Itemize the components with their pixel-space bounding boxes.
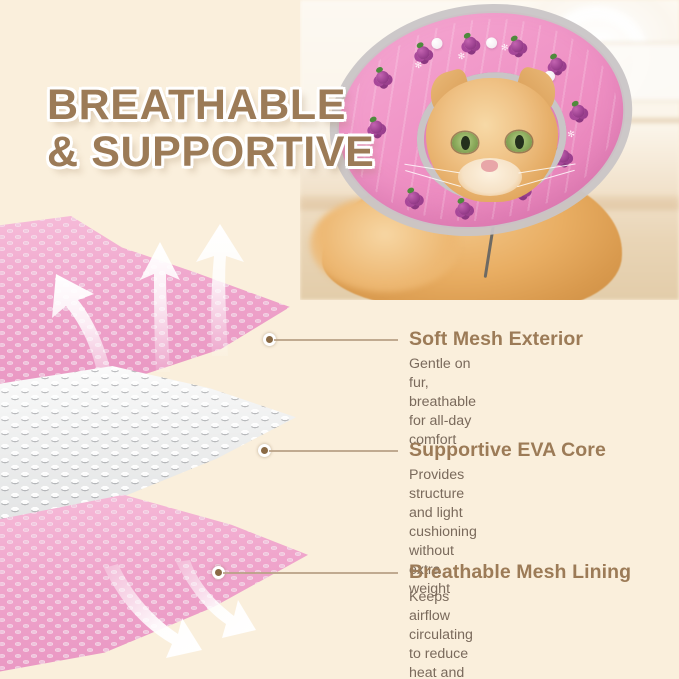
feature-title: Supportive EVA Core [409,439,606,462]
feature-title: Breathable Mesh Lining [409,561,631,584]
callout-line [223,572,398,574]
feature-description: Keeps airflow circulating to reduce heat… [409,588,473,679]
cat-pupil [515,135,524,149]
callout-line [274,339,398,341]
headline-line-1: BREATHABLE [47,82,374,129]
snowflake-motif: ✻ [414,61,423,71]
cat-eye-left [452,132,478,153]
headline-line-2: & SUPPORTIVE [47,129,374,176]
cat-eye-right [506,131,532,152]
snowflake-motif: ✻ [567,130,576,140]
feature-description-line: Provides structure and light [409,466,477,523]
snowflake-motif: ✻ [500,43,509,53]
callout-line [269,450,398,452]
cat-pupil [461,136,470,150]
page-title: BREATHABLE & SUPPORTIVE [47,82,374,176]
feature-description: Gentle on fur, breathable for all-day co… [409,355,476,450]
airflow-arrow-up [186,218,262,358]
layered-material-diagram [0,216,320,679]
feature-description-line: Gentle on fur, breathable [409,355,476,412]
feature-title: Soft Mesh Exterior [409,328,583,351]
cat-nose [481,160,498,172]
snowflake-motif: ✻ [457,52,466,62]
feature-description-line: Keeps airflow circulating to reduce [409,588,473,664]
infographic-canvas: ✻ ✻ ✻ ✻ ✻ BREATHABLE & SUPPORTIVE [0,0,679,679]
feature-description-line: heat and moisture buildup [409,664,473,679]
